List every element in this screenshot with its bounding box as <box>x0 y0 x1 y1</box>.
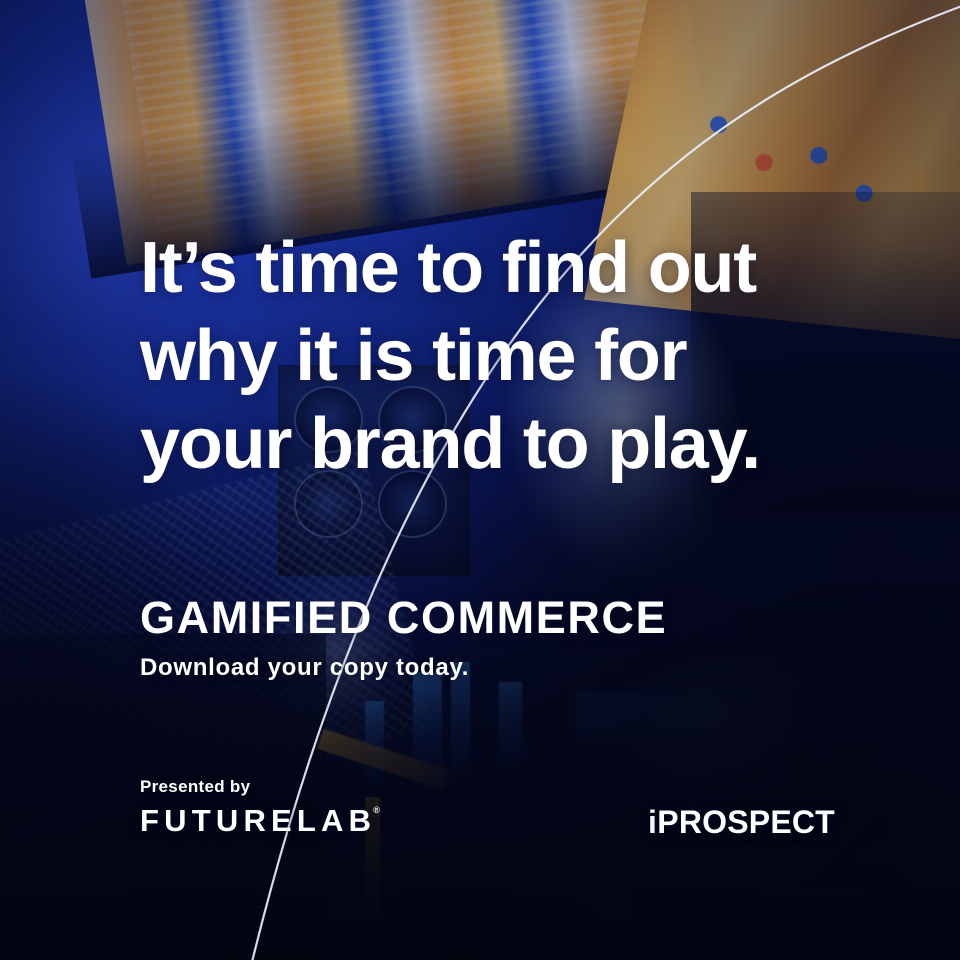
iprospect-logo: iPROSPECT <box>648 804 835 841</box>
registered-trademark-icon: ® <box>373 805 380 815</box>
iprospect-lead-letter: i <box>648 804 657 840</box>
report-title: GAMIFIED COMMERCE <box>140 596 667 640</box>
headline: It’s time to find out why it is time for… <box>140 224 760 488</box>
ad-copy-layer: It’s time to find out why it is time for… <box>0 0 960 960</box>
iprospect-wordmark: PROSPECT <box>657 804 835 840</box>
headline-line-2: why it is time for <box>140 312 760 400</box>
download-call-to-action[interactable]: Download your copy today. <box>140 652 469 684</box>
futurelab-wordmark: FUTURELAB <box>140 803 376 838</box>
gamified-commerce-ad: It’s time to find out why it is time for… <box>0 0 960 960</box>
futurelab-logo: FUTURELAB® <box>140 803 383 839</box>
headline-line-3: your brand to play. <box>140 400 760 488</box>
headline-line-1: It’s time to find out <box>140 224 760 312</box>
presented-by-label: Presented by <box>140 777 250 797</box>
